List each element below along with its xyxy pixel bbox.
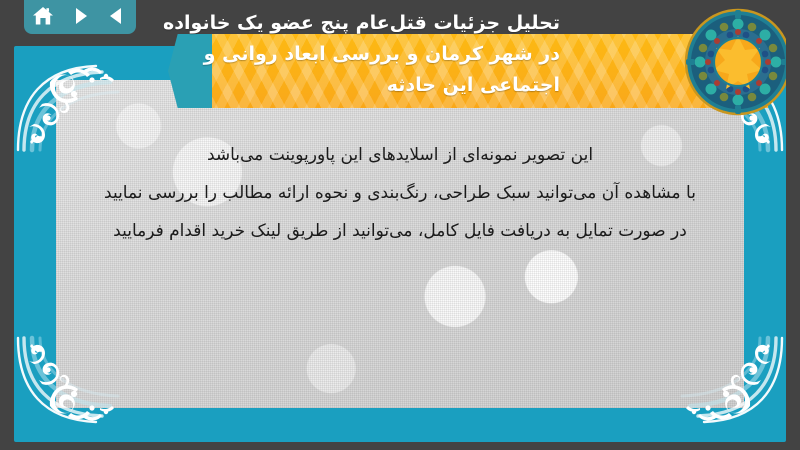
body-line-2: با مشاهده آن می‌توانید سبک طراحی، رنگ‌بن… — [0, 174, 800, 212]
body-line-1: این تصویر نمونه‌ای از اسلایدهای این پاور… — [0, 136, 800, 174]
right-arrow-icon — [70, 6, 90, 26]
home-button[interactable] — [30, 3, 56, 29]
left-arrow-icon — [107, 6, 127, 26]
slide-bottom-margin — [0, 442, 800, 450]
next-slide-button[interactable] — [67, 3, 93, 29]
slide-canvas: این تصویر نمونه‌ای از اسلایدهای این پاور… — [0, 8, 800, 450]
previous-slide-button[interactable] — [104, 3, 130, 29]
slide-navigation-toolbar — [24, 0, 136, 34]
slide-body-text: این تصویر نمونه‌ای از اسلایدهای این پاور… — [0, 136, 800, 250]
home-icon — [32, 6, 54, 26]
presentation-viewer: این تصویر نمونه‌ای از اسلایدهای این پاور… — [0, 0, 800, 450]
persian-medallion-icon — [684, 8, 792, 116]
body-line-3: در صورت تمایل به دریافت فایل کامل، می‌تو… — [0, 212, 800, 250]
slide-right-margin — [786, 8, 800, 450]
slide-left-margin — [0, 8, 14, 450]
